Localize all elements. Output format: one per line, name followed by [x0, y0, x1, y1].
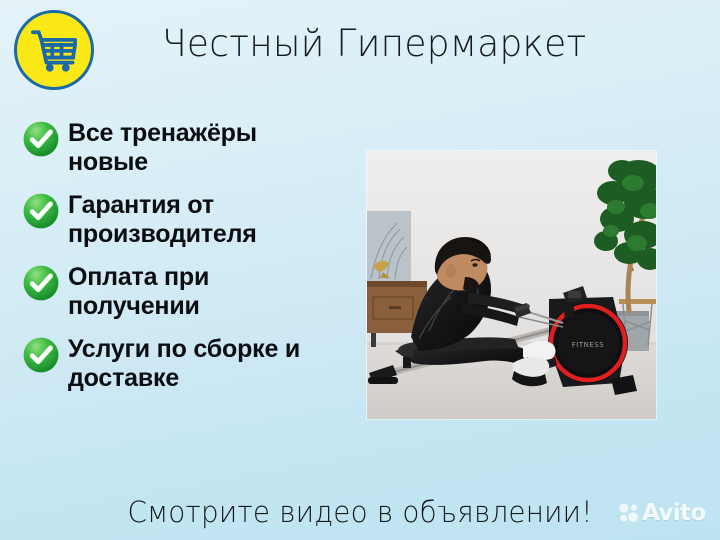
list-item-label: Оплата при получении [68, 262, 342, 321]
benefits-list: Все тренажёры новые Гарантия от производ… [22, 118, 342, 406]
product-photo: FITNESS [367, 151, 656, 419]
avito-watermark: Avito [618, 500, 706, 526]
list-item: Оплата при получении [22, 262, 342, 321]
list-item-label: Все тренажёры новые [68, 118, 342, 177]
footer-note: Смотрите видео в объявлении! [14, 492, 705, 532]
green-check-icon [22, 264, 60, 302]
list-item: Все тренажёры новые [22, 118, 342, 177]
rowing-machine-user-photo: FITNESS [367, 151, 656, 419]
green-check-icon [22, 336, 60, 374]
green-check-icon [22, 192, 60, 230]
avito-wordmark: Avito [642, 500, 706, 526]
green-check-icon [22, 120, 60, 158]
svg-text:FITNESS: FITNESS [572, 341, 604, 349]
list-item-label: Гарантия от производителя [68, 190, 342, 249]
list-item: Услуги по сборке и доставке [22, 334, 342, 393]
brand-logo-badge [14, 10, 94, 90]
advertisement-banner: Честный Гипермаркет Все тренажёры новые [0, 0, 720, 540]
shopping-cart-icon [27, 23, 81, 77]
avito-dots-icon [618, 502, 640, 524]
list-item-label: Услуги по сборке и доставке [68, 334, 342, 393]
list-item: Гарантия от производителя [22, 190, 342, 249]
page-title: Честный Гипермаркет [162, 19, 587, 69]
